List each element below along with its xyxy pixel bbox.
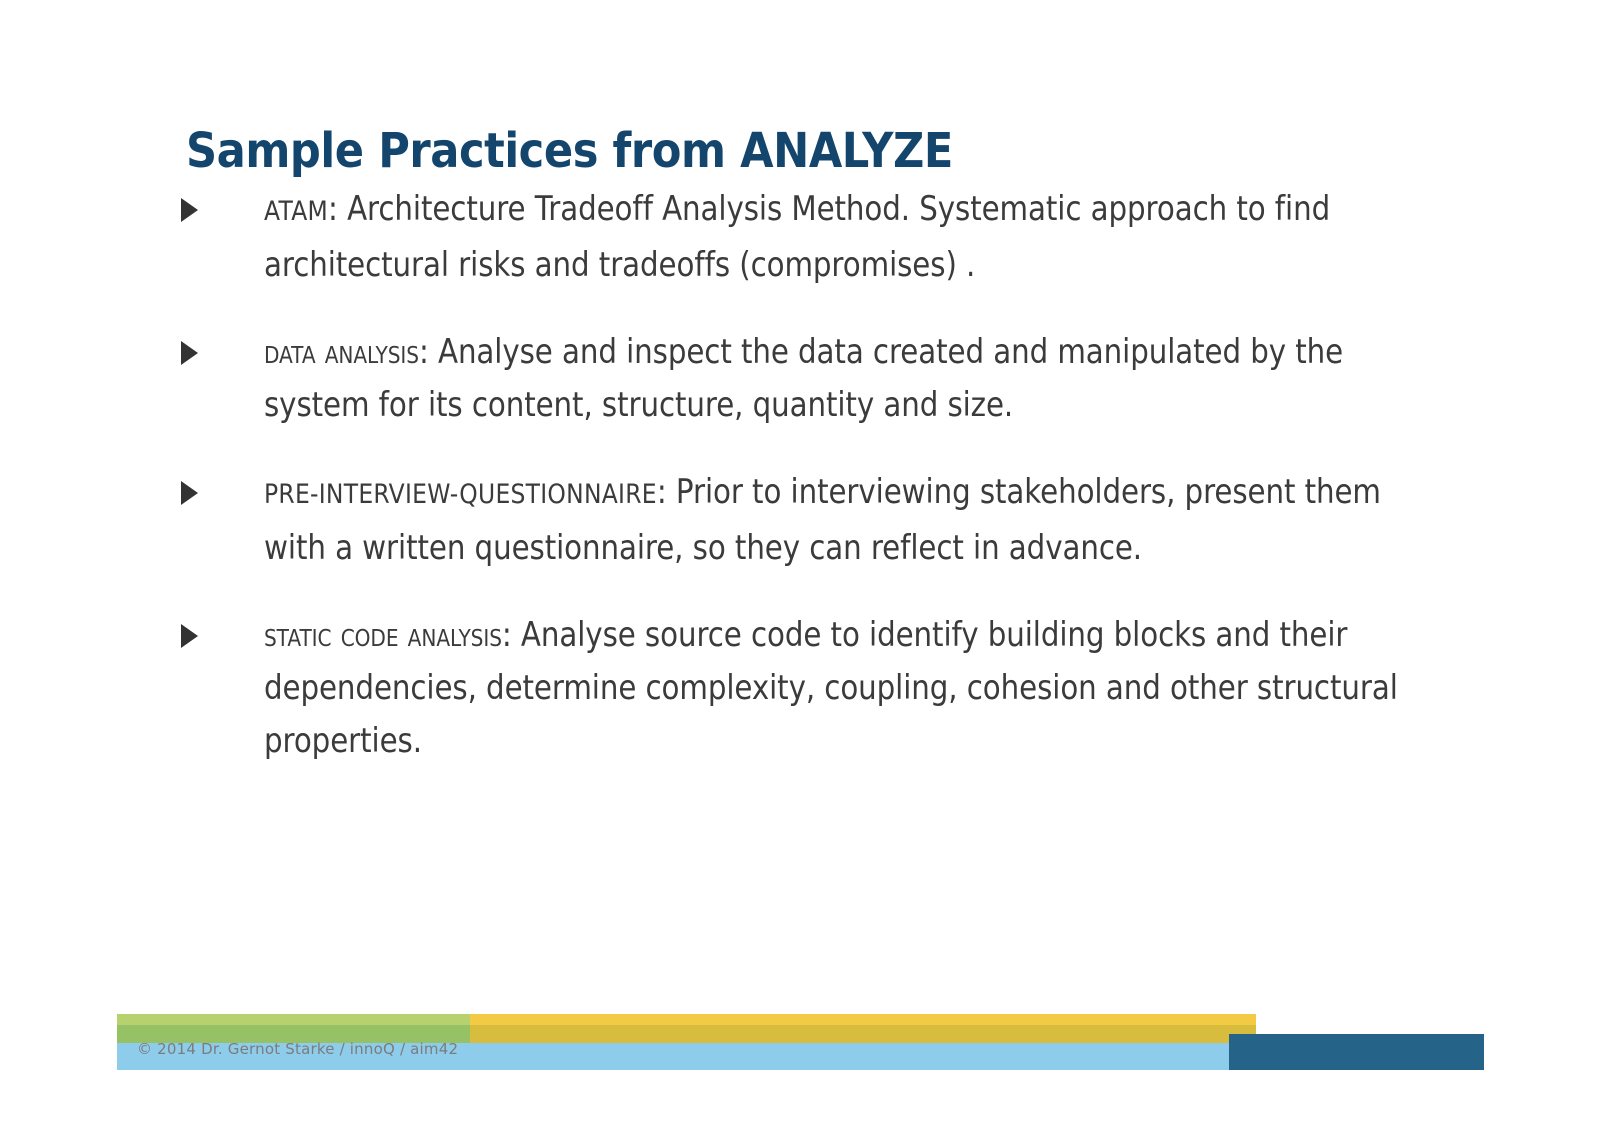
footer-copyright: © 2014 Dr. Gernot Starke / innoQ / aim42	[137, 1038, 458, 1060]
list-item: PRE-INTERVIEW-QUESTIONNAIRE: Prior to in…	[178, 465, 1418, 574]
list-item-term: PRE-INTERVIEW-QUESTIONNAIRE	[264, 479, 657, 510]
presentation-slide: Sample Practices from ANALYZE ATAM: Arch…	[0, 0, 1600, 1130]
list-item: Static code analysis: Analyse source cod…	[178, 608, 1418, 767]
footer-bar-yellow-dark	[470, 1025, 1256, 1043]
footer-bar-yellow-light	[470, 1014, 1256, 1025]
list-item-description: Architecture Tradeoff Analysis Method. S…	[264, 189, 1330, 284]
triangle-right-icon	[181, 481, 198, 505]
triangle-right-icon	[181, 624, 198, 648]
bullet-list: ATAM: Architecture Tradeoff Analysis Met…	[178, 182, 1418, 801]
list-item-text: ATAM: Architecture Tradeoff Analysis Met…	[264, 182, 1415, 291]
list-item-text: PRE-INTERVIEW-QUESTIONNAIRE: Prior to in…	[264, 465, 1415, 574]
list-item: ATAM: Architecture Tradeoff Analysis Met…	[178, 182, 1418, 291]
page-title: Sample Practices from ANALYZE	[186, 122, 953, 180]
triangle-right-icon	[181, 341, 198, 365]
list-item-term: Static code analysis	[264, 615, 502, 654]
list-item-text: Data analysis: Analyse and inspect the d…	[264, 325, 1415, 431]
list-item-text: Static code analysis: Analyse source cod…	[264, 608, 1415, 767]
list-item: Data analysis: Analyse and inspect the d…	[178, 325, 1418, 431]
triangle-right-icon	[181, 198, 198, 222]
footer-bar-teal	[1229, 1034, 1484, 1070]
list-item-term: ATAM	[264, 196, 328, 227]
list-item-separator: :	[419, 332, 438, 371]
list-item-separator: :	[328, 189, 347, 228]
list-item-term: Data analysis	[264, 332, 419, 371]
list-item-separator: :	[657, 472, 676, 511]
list-item-separator: :	[502, 615, 521, 654]
footer-bar-green-light	[117, 1014, 470, 1025]
